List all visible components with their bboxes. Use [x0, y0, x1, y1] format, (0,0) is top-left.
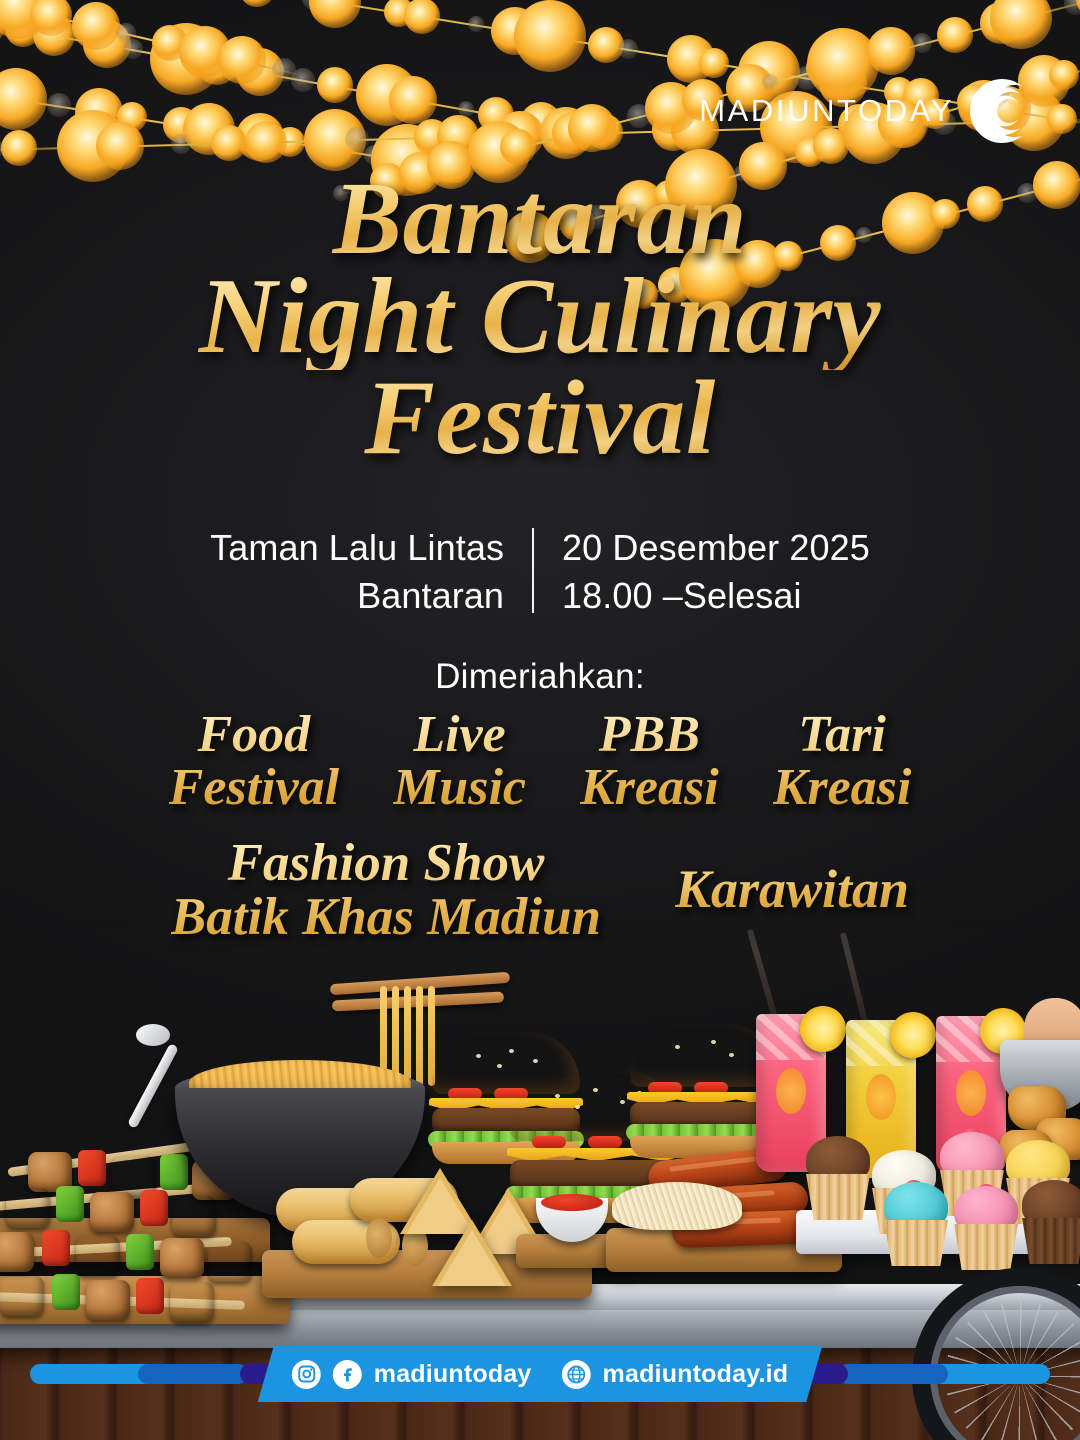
- website-text[interactable]: madiuntoday.id: [603, 1360, 789, 1389]
- poster-title: Bantaran Night Culinary Festival: [0, 168, 1080, 470]
- social-handles-panel: madiuntoday madiuntoday.id: [258, 1346, 822, 1402]
- lineup-item-tari-kreasi: Tari Kreasi: [773, 708, 912, 814]
- venue-line-1: Taman Lalu Lintas: [210, 524, 504, 572]
- title-line-3: Festival: [0, 366, 1080, 470]
- lineup-item-live-music: Live Music: [393, 708, 526, 814]
- event-info-bar: Taman Lalu Lintas Bantaran 20 Desember 2…: [0, 524, 1080, 619]
- lineup-item-fashion-show: Fashion Show Batik Khas Madiun: [171, 836, 601, 944]
- venue-line-2: Bantaran: [210, 572, 504, 620]
- lineup-item-food-festival: Food Festival: [169, 708, 339, 814]
- social-footer-bar: madiuntoday madiuntoday.id: [0, 1346, 1080, 1402]
- brand-logo: MADIUNTODAY: [699, 72, 1038, 150]
- brand-logo-text: MADIUNTODAY: [699, 93, 954, 129]
- event-date: 20 Desember 2025: [562, 524, 870, 572]
- datetime-block: 20 Desember 2025 18.00 –Selesai: [534, 524, 870, 619]
- lineup-item-karawitan: Karawitan: [675, 836, 909, 917]
- facebook-icon[interactable]: [333, 1360, 362, 1389]
- stripe-segment-5: [838, 1364, 948, 1384]
- lineup-item-pbb-kreasi: PBB Kreasi: [580, 708, 719, 814]
- globe-icon[interactable]: [562, 1360, 591, 1389]
- lineup-row-1: Food Festival Live Music PBB Kreasi Tari…: [0, 708, 1080, 814]
- instagram-icon[interactable]: [292, 1360, 321, 1389]
- event-time: 18.00 –Selesai: [562, 572, 870, 620]
- title-line-1: Bantaran: [0, 168, 1080, 270]
- social-handle-text[interactable]: madiuntoday: [374, 1360, 532, 1389]
- swirl-crescent-mark-icon: [960, 72, 1038, 150]
- venue-block: Taman Lalu Lintas Bantaran: [210, 524, 532, 619]
- lineup-label: Dimeriahkan:: [0, 657, 1080, 697]
- title-line-2: Night Culinary: [0, 264, 1080, 370]
- stripe-segment-2: [138, 1364, 248, 1384]
- lineup-row-2: Fashion Show Batik Khas Madiun Karawitan: [0, 836, 1080, 944]
- poster-canvas: MADIUNTODAY Bantaran Night Culinary Fest…: [0, 0, 1080, 1440]
